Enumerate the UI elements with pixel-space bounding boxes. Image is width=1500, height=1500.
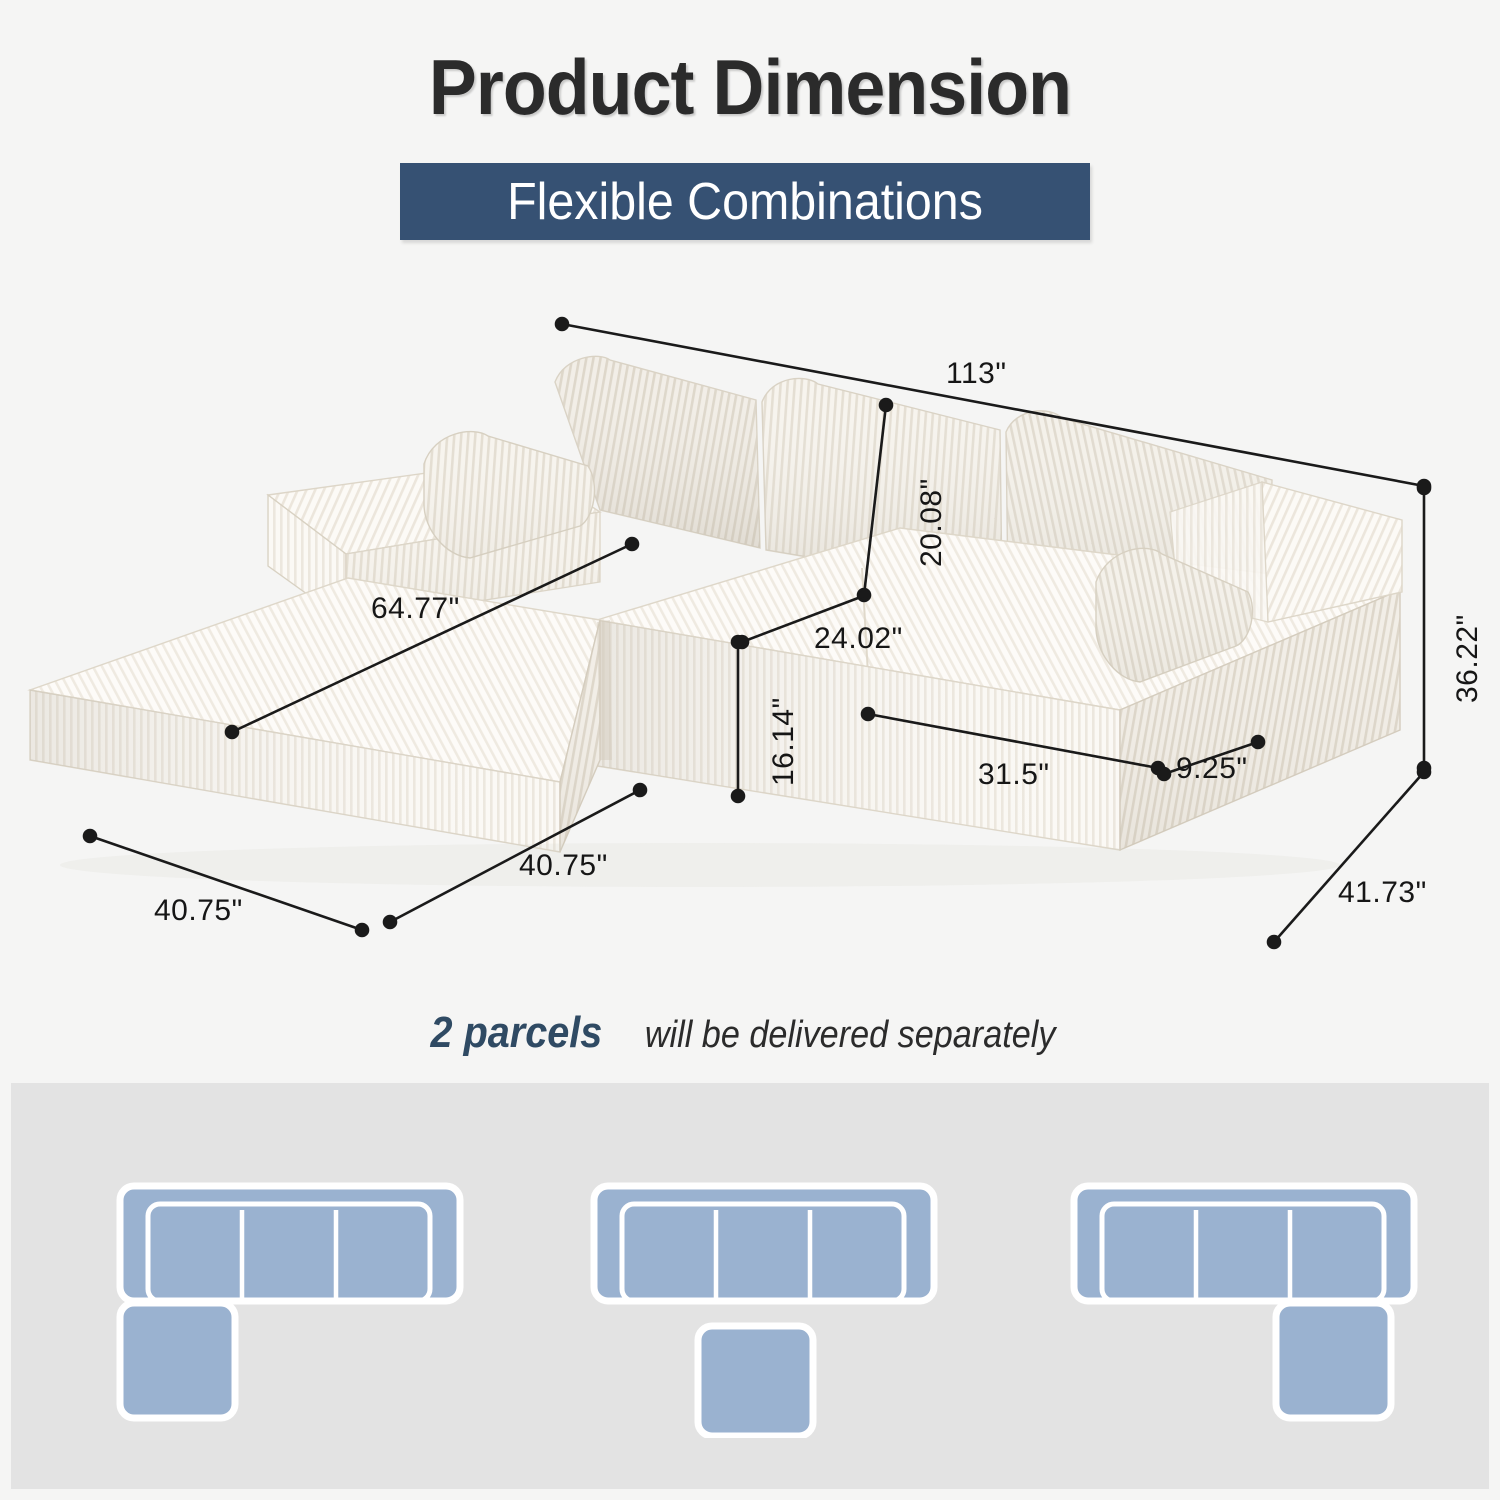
combo-left-chaise[interactable] bbox=[106, 1178, 466, 1428]
parcel-note: will be delivered separately bbox=[645, 1014, 1056, 1057]
dim-label-chaise-width-front: 40.75" bbox=[519, 849, 608, 883]
dim-label-backrest-height: 20.08" bbox=[915, 478, 949, 567]
floor-shadow bbox=[60, 843, 1340, 887]
dim-label-seat-height: 16.14" bbox=[767, 697, 801, 786]
combinations-panel bbox=[11, 1083, 1489, 1489]
combo-right-chaise[interactable] bbox=[1066, 1178, 1426, 1428]
dim-label-chaise-length: 64.77" bbox=[371, 592, 460, 626]
page-title: Product Dimension bbox=[60, 42, 1440, 133]
shipping-note: 2 parcelswill be delivered separately bbox=[0, 1008, 1500, 1058]
dim-label-arm-width: 9.25" bbox=[1176, 752, 1248, 786]
dim-label-overall-depth: 41.73" bbox=[1338, 876, 1427, 910]
parcel-count: 2 parcels bbox=[431, 1008, 603, 1058]
dim-label-overall-height: 36.22" bbox=[1451, 614, 1485, 703]
dim-label-seat-width: 31.5" bbox=[978, 758, 1050, 792]
dim-label-seat-depth: 24.02" bbox=[814, 622, 903, 656]
sofa-illustration bbox=[0, 290, 1500, 990]
chaise-seat-block bbox=[30, 578, 600, 852]
subtitle-text: Flexible Combinations bbox=[424, 163, 1066, 240]
infographic-canvas: Product Dimension Flexible Combinations bbox=[0, 0, 1500, 1500]
dim-label-overall-width: 113" bbox=[946, 357, 1006, 391]
combo-detached[interactable] bbox=[586, 1178, 946, 1438]
dim-label-chaise-width-side: 40.75" bbox=[154, 894, 243, 928]
sofa-body bbox=[30, 356, 1402, 887]
subtitle-banner: Flexible Combinations bbox=[400, 163, 1090, 240]
